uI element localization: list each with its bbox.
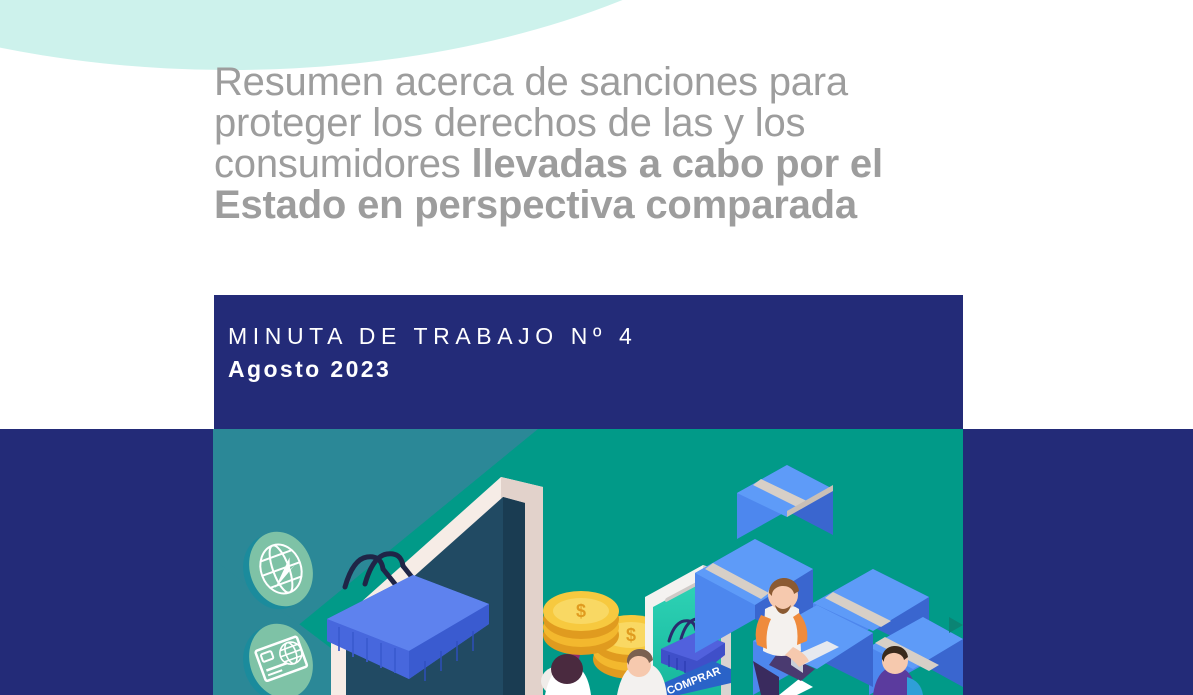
ecommerce-illustration-svg: $ $ bbox=[213, 429, 963, 695]
slide-canvas: Resumen acerca de sanciones para protege… bbox=[0, 0, 1193, 695]
minuta-date: Agosto 2023 bbox=[228, 353, 963, 385]
page-title: Resumen acerca de sanciones para protege… bbox=[214, 62, 934, 226]
coin-symbol: $ bbox=[626, 625, 636, 645]
minuta-label: MINUTA DE TRABAJO Nº 4 bbox=[228, 321, 963, 351]
ecommerce-illustration: $ $ bbox=[213, 429, 963, 695]
svg-text:$: $ bbox=[576, 601, 586, 621]
caption-band: MINUTA DE TRABAJO Nº 4 Agosto 2023 bbox=[214, 295, 963, 429]
